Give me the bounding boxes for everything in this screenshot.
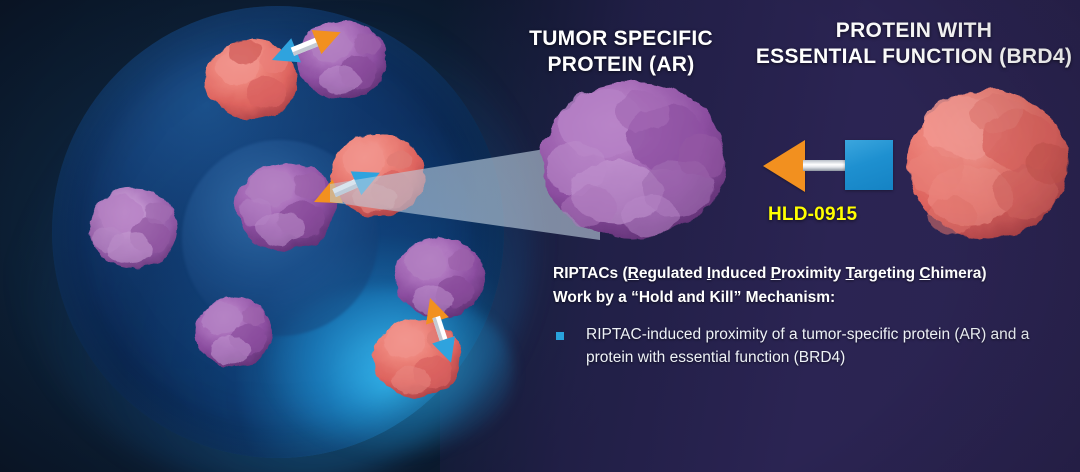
figure-canvas: TUMOR SPECIFIC PROTEIN (AR) PROTEIN WITH…	[0, 0, 1080, 472]
vignette-overlay	[0, 0, 1080, 472]
